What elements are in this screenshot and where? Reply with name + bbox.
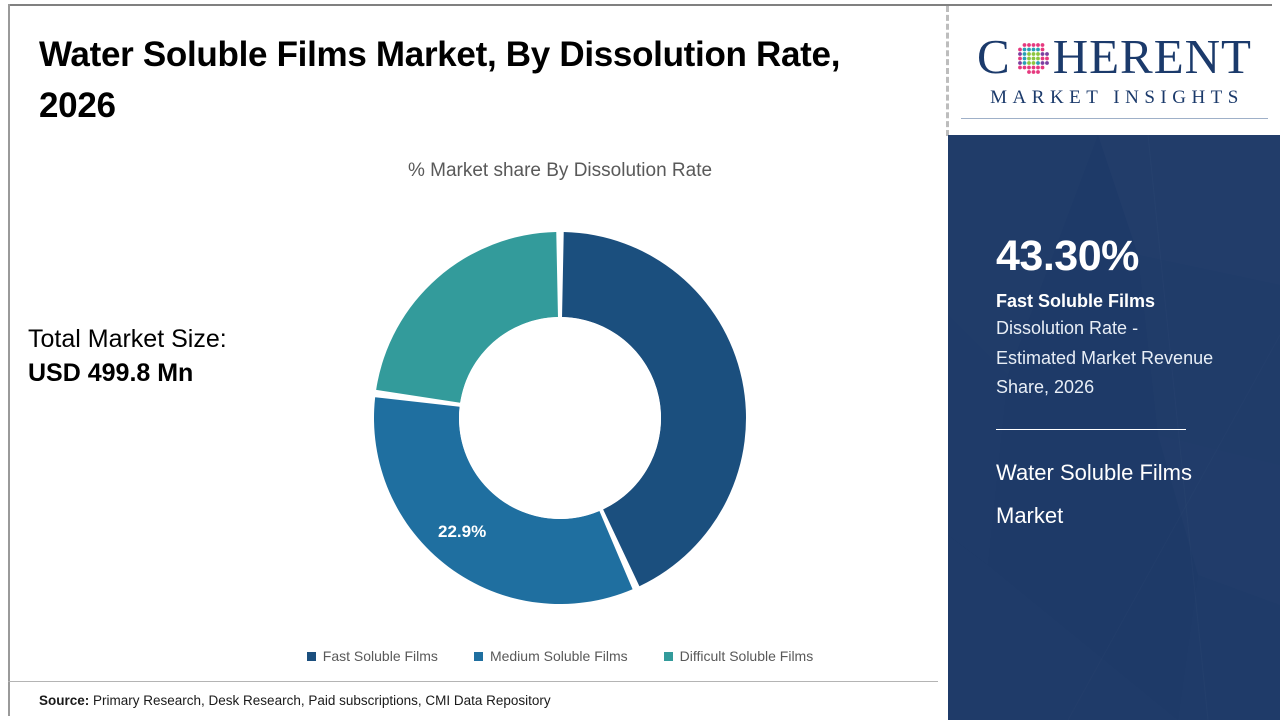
donut-chart: 43.3% 33.8% 22.9%: [370, 228, 750, 608]
chart-legend: Fast Soluble Films Medium Soluble Films …: [160, 648, 960, 664]
source-prefix: Source:: [39, 693, 89, 708]
source-text: Primary Research, Desk Research, Paid su…: [89, 693, 550, 708]
highlight-content: 43.30% Fast Soluble Films Dissolution Ra…: [948, 135, 1280, 538]
legend-swatch-fast: [307, 652, 316, 661]
infographic-page: Water Soluble Films Market, By Dissoluti…: [0, 0, 1280, 720]
slice-label-difficult: 22.9%: [438, 522, 486, 542]
highlight-market-name: Water Soluble Films Market: [996, 452, 1226, 538]
legend-label-fast: Fast Soluble Films: [323, 648, 438, 664]
total-market-size-value: USD 499.8 Mn: [28, 356, 227, 390]
logo-underline: [961, 118, 1268, 119]
highlight-panel: 43.30% Fast Soluble Films Dissolution Ra…: [948, 135, 1280, 720]
logo-wordmark: C HERENT: [977, 32, 1252, 81]
highlight-percent: 43.30%: [996, 234, 1280, 279]
legend-item-fast[interactable]: Fast Soluble Films: [307, 648, 438, 664]
donut-chart-svg: [370, 228, 750, 608]
legend-item-difficult[interactable]: Difficult Soluble Films: [664, 648, 814, 664]
total-market-size: Total Market Size: USD 499.8 Mn: [28, 322, 227, 390]
logo-letter-c: C: [977, 32, 1011, 81]
logo-tagline: MARKET INSIGHTS: [985, 87, 1244, 109]
frame-left-border: [8, 4, 10, 716]
legend-item-medium[interactable]: Medium Soluble Films: [474, 648, 628, 664]
donut-hole: [459, 317, 661, 519]
legend-label-medium: Medium Soluble Films: [490, 648, 628, 664]
highlight-segment-name: Fast Soluble Films: [996, 289, 1280, 313]
logo-letters-rest: HERENT: [1053, 32, 1252, 81]
legend-swatch-difficult: [664, 652, 673, 661]
highlight-description: Dissolution Rate - Estimated Market Reve…: [996, 314, 1221, 401]
slice-label-fast: 43.3%: [677, 602, 725, 622]
globe-icon: [1012, 37, 1052, 77]
brand-logo[interactable]: C HERENT MARKET INSIGHTS: [949, 6, 1280, 135]
chart-subtitle: % Market share By Dissolution Rate: [180, 160, 940, 182]
legend-swatch-medium: [474, 652, 483, 661]
source-divider: [8, 681, 938, 682]
page-title: Water Soluble Films Market, By Dissoluti…: [39, 30, 919, 132]
highlight-divider: [996, 429, 1186, 431]
total-market-size-label: Total Market Size:: [28, 322, 227, 356]
source-note: Source: Primary Research, Desk Research,…: [39, 693, 551, 708]
legend-label-difficult: Difficult Soluble Films: [680, 648, 814, 664]
